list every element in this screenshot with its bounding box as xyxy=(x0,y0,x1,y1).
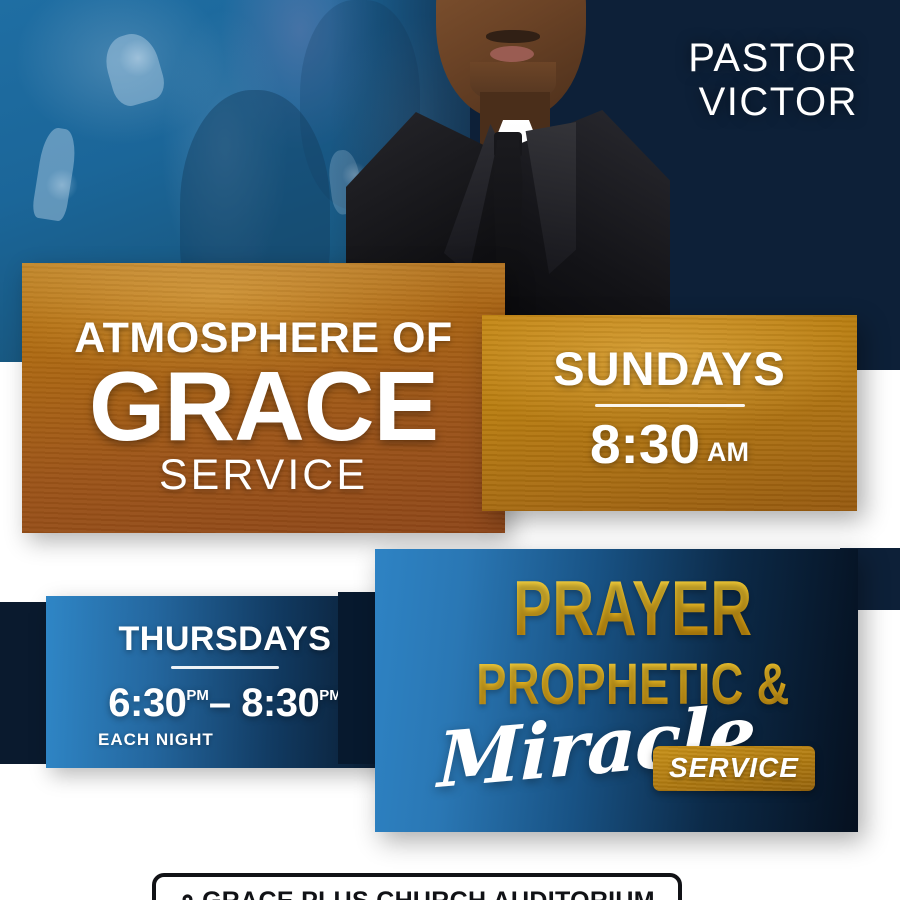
sundays-content: SUNDAYS 8:30AM xyxy=(482,343,857,481)
prayer-service-badge: SERVICE xyxy=(653,746,815,791)
pastor-moustache xyxy=(486,30,540,43)
sundays-meridiem: AM xyxy=(707,437,749,467)
prayer-service-badge-label: SERVICE xyxy=(669,752,799,783)
thursdays-start-meridiem: PM xyxy=(186,687,209,704)
grace-line-grace: GRACE xyxy=(22,359,505,453)
grace-service-text: ATMOSPHERE OF GRACE SERVICE xyxy=(22,315,505,499)
sundays-time-panel: SUNDAYS 8:30AM xyxy=(482,315,857,511)
thursdays-divider xyxy=(171,666,279,669)
sundays-time: 8:30AM xyxy=(482,415,857,481)
location-pin-icon xyxy=(179,893,196,900)
grace-service-panel: ATMOSPHERE OF GRACE SERVICE xyxy=(22,263,505,533)
prayer-service-content: PRAYER PROPHETIC & Miracle SERVICE xyxy=(375,549,858,832)
thursdays-dash: – xyxy=(209,681,231,725)
prayer-service-panel: PRAYER PROPHETIC & Miracle SERVICE xyxy=(375,549,858,832)
raised-hand-icon xyxy=(99,28,168,110)
sundays-divider xyxy=(595,404,745,407)
pastor-name-line-1: PASTOR xyxy=(688,36,858,80)
venue-address-box: GRACE PLUS CHURCH AUDITORIUM xyxy=(152,873,682,900)
thursdays-end-time: 8:30 xyxy=(241,681,319,725)
church-service-flyer: PASTOR VICTOR ATMOSPHERE OF GRACE SERVIC… xyxy=(0,0,900,900)
thursdays-start-time: 6:30 xyxy=(108,681,186,725)
sundays-time-value: 8:30 xyxy=(590,413,700,475)
pastor-name-line-2: VICTOR xyxy=(688,80,858,124)
raised-hand-icon xyxy=(31,126,79,222)
pastor-name: PASTOR VICTOR xyxy=(688,36,858,124)
prayer-line-prayer: PRAYER xyxy=(478,571,789,645)
pastor-mouth xyxy=(490,46,534,62)
sundays-day-label: SUNDAYS xyxy=(482,343,857,395)
venue-address-text: GRACE PLUS CHURCH AUDITORIUM xyxy=(202,887,655,900)
